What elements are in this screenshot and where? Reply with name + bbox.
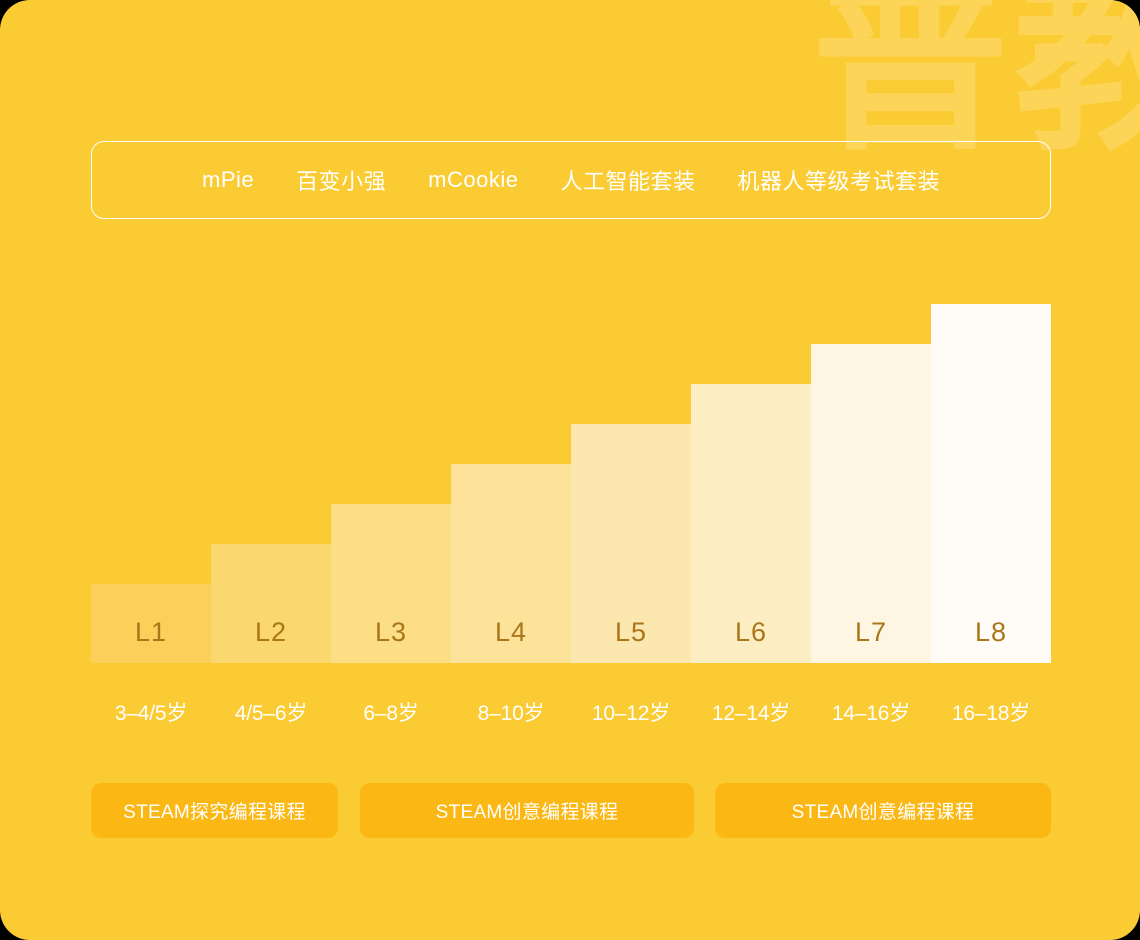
age-label-l2: 4/5–6岁 [211, 697, 331, 727]
course-button-group: STEAM探究编程课程 STEAM创意编程课程 STEAM创意编程课程 [91, 783, 1051, 838]
bar-label-l4: L4 [495, 619, 527, 646]
bar-label-l1: L1 [135, 619, 167, 646]
level-bar-chart: L1 L2 L3 L4 L5 L6 L7 L8 [91, 304, 1051, 663]
age-label-l4: 8–10岁 [451, 697, 571, 727]
age-label-l8: 16–18岁 [931, 697, 1051, 727]
bar-l7: L7 [811, 344, 931, 663]
tab-robot-exam-kit[interactable]: 机器人等级考试套装 [737, 158, 940, 202]
age-label-l7: 14–16岁 [811, 697, 931, 727]
course-button-creative-2[interactable]: STEAM创意编程课程 [715, 783, 1051, 838]
bar-label-l7: L7 [855, 619, 887, 646]
bar-l5: L5 [571, 424, 691, 663]
course-button-explore[interactable]: STEAM探究编程课程 [91, 783, 338, 838]
tab-ai-kit[interactable]: 人工智能套装 [560, 158, 695, 202]
bar-label-l2: L2 [255, 619, 287, 646]
age-label-l3: 6–8岁 [331, 697, 451, 727]
bar-l2: L2 [211, 544, 331, 663]
bar-label-l5: L5 [615, 619, 647, 646]
bar-l4: L4 [451, 464, 571, 663]
bar-l8: L8 [931, 304, 1051, 663]
tab-mpie[interactable]: mPie [202, 161, 254, 199]
course-level-card: 普教 mPie 百变小强 mCookie 人工智能套装 机器人等级考试套装 L1… [0, 0, 1140, 940]
age-label-l6: 12–14岁 [691, 697, 811, 727]
age-label-l1: 3–4/5岁 [91, 697, 211, 727]
brand-watermark: 普教 [812, 0, 1140, 162]
tab-baibianxiaoqiang[interactable]: 百变小强 [296, 158, 386, 202]
bar-label-l6: L6 [735, 619, 767, 646]
age-label-l5: 10–12岁 [571, 697, 691, 727]
bar-label-l3: L3 [375, 619, 407, 646]
bar-l1: L1 [91, 584, 211, 663]
product-tab-bar[interactable]: mPie 百变小强 mCookie 人工智能套装 机器人等级考试套装 [91, 141, 1051, 219]
course-button-creative-1[interactable]: STEAM创意编程课程 [360, 783, 694, 838]
bar-label-l8: L8 [975, 619, 1007, 646]
tab-mcookie[interactable]: mCookie [428, 161, 518, 199]
bar-l3: L3 [331, 504, 451, 663]
age-range-axis: 3–4/5岁 4/5–6岁 6–8岁 8–10岁 10–12岁 12–14岁 1… [91, 697, 1051, 727]
bar-l6: L6 [691, 384, 811, 663]
